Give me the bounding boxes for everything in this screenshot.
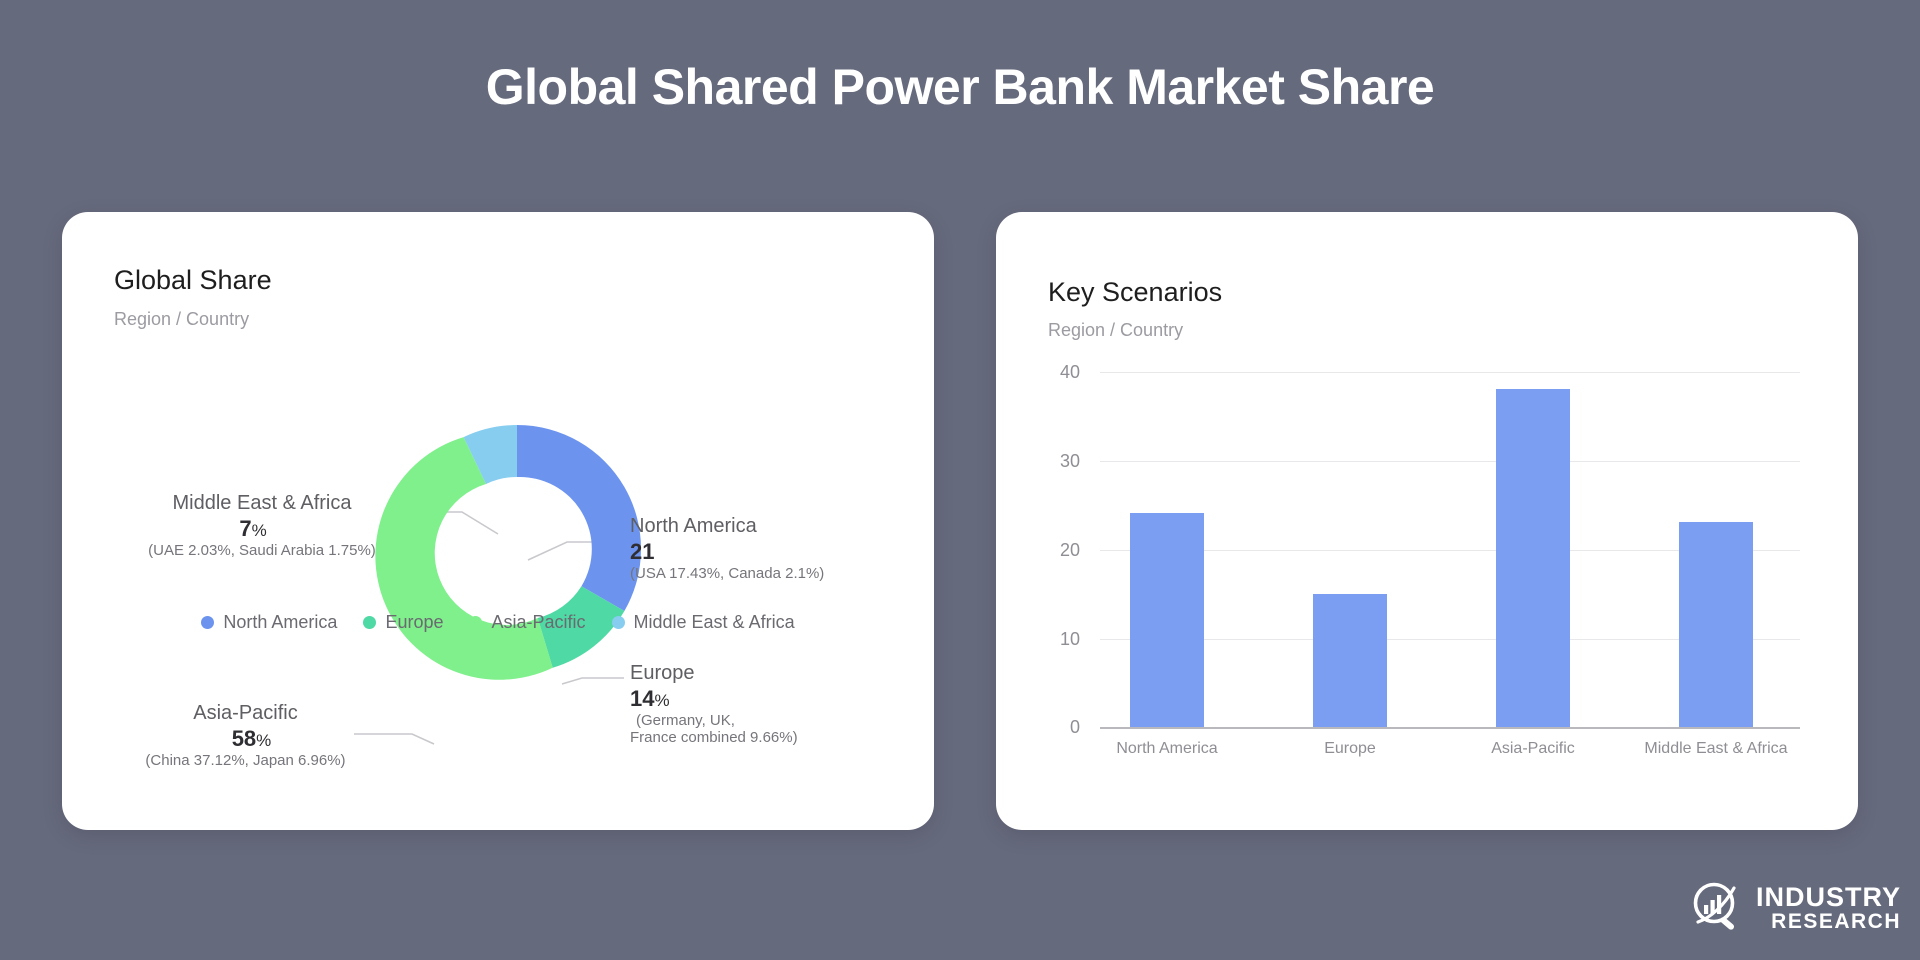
callout-mea-value: 7%: [102, 516, 422, 542]
donut-slice-north-america[interactable]: [517, 425, 641, 611]
legend-dot-middle-east-africa: [612, 616, 625, 629]
key-scenarios-card: Key Scenarios Region / Country 40 30 20 …: [996, 212, 1858, 830]
callout-ap-sub: (China 37.12%, Japan 6.96%): [98, 752, 393, 770]
callout-mea-sub: (UAE 2.03%, Saudi Arabia 1.75%): [102, 542, 422, 560]
donut-legend: North America Europe Asia-Pacific Middle…: [62, 612, 934, 633]
callout-asia-pacific: Asia-Pacific 58% (China 37.12%, Japan 6.…: [98, 702, 393, 769]
xtick-north-america: North America: [1087, 740, 1247, 758]
xtick-middle-east-africa: Middle East & Africa: [1636, 740, 1796, 758]
bar-middle-east-africa[interactable]: [1679, 522, 1753, 727]
brand-logo: INDUSTRY RESEARCH: [1690, 880, 1901, 936]
ytick-10: 10: [1034, 629, 1080, 650]
magnifier-chart-icon: [1690, 880, 1746, 936]
ytick-30: 30: [1034, 451, 1080, 472]
axis-baseline: [1100, 727, 1800, 729]
bar-north-america[interactable]: [1130, 513, 1204, 727]
gridline-30: [1100, 461, 1800, 462]
callout-eu-value: 14%: [630, 686, 798, 712]
callout-eu-sub-line1: (Germany, UK,: [630, 712, 798, 730]
bar-europe[interactable]: [1313, 594, 1387, 727]
logo-line-research: RESEARCH: [1771, 911, 1901, 932]
bar-chart: 40 30 20 10 0 North America Europe Asia-…: [996, 212, 1858, 830]
bar-asia-pacific[interactable]: [1496, 389, 1570, 727]
callout-eu-name: Europe: [630, 662, 798, 686]
legend-dot-europe: [363, 616, 376, 629]
legend-item-north-america[interactable]: North America: [201, 612, 337, 633]
callout-middle-east-africa: Middle East & Africa 7% (UAE 2.03%, Saud…: [102, 492, 422, 559]
legend-dot-north-america: [201, 616, 214, 629]
callout-ap-value: 58%: [98, 726, 393, 752]
legend-item-europe[interactable]: Europe: [363, 612, 443, 633]
gridline-40: [1100, 372, 1800, 373]
poster-root: Global Shared Power Bank Market Share Gl…: [0, 0, 1920, 960]
callout-mea-name: Middle East & Africa: [102, 492, 422, 516]
xtick-europe: Europe: [1270, 740, 1430, 758]
global-share-card: Global Share Region / Country: [62, 212, 934, 830]
legend-item-asia-pacific[interactable]: Asia-Pacific: [469, 612, 585, 633]
legend-dot-asia-pacific: [469, 616, 482, 629]
callout-na-name: North America: [630, 515, 824, 539]
callout-north-america: North America 21 (USA 17.43%, Canada 2.1…: [630, 515, 824, 582]
callout-eu-sub-line2: France combined 9.66%): [630, 729, 798, 747]
logo-text: INDUSTRY RESEARCH: [1756, 884, 1901, 932]
ytick-20: 20: [1034, 540, 1080, 561]
callout-ap-name: Asia-Pacific: [98, 702, 393, 726]
legend-item-middle-east-africa[interactable]: Middle East & Africa: [612, 612, 795, 633]
ytick-0: 0: [1034, 717, 1080, 738]
legend-label-asia-pacific: Asia-Pacific: [491, 612, 585, 633]
page-title: Global Shared Power Bank Market Share: [0, 58, 1920, 116]
legend-label-north-america: North America: [223, 612, 337, 633]
ytick-40: 40: [1034, 362, 1080, 383]
logo-line-industry: INDUSTRY: [1756, 884, 1901, 911]
xtick-asia-pacific: Asia-Pacific: [1453, 740, 1613, 758]
legend-label-middle-east-africa: Middle East & Africa: [634, 612, 795, 633]
callout-europe: Europe 14% (Germany, UK, France combined…: [630, 662, 798, 747]
callout-na-sub: (USA 17.43%, Canada 2.1%): [630, 565, 824, 583]
callout-na-value: 21: [630, 539, 824, 565]
legend-label-europe: Europe: [385, 612, 443, 633]
